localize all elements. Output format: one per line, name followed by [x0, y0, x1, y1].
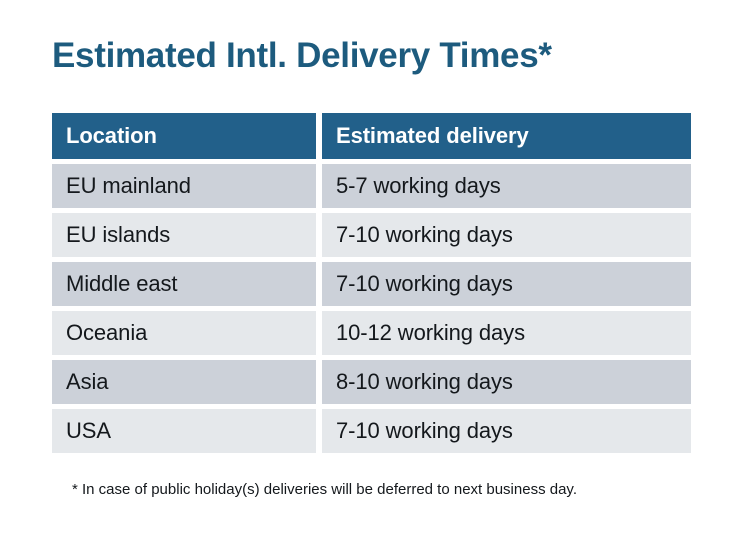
cell-estimated-delivery: 7-10 working days [322, 262, 691, 306]
table-header-row: Location Estimated delivery [52, 113, 691, 159]
cell-location: Middle east [52, 262, 316, 306]
cell-estimated-delivery: 10-12 working days [322, 311, 691, 355]
estimated-delivery-table: Location Estimated delivery EU mainland … [52, 113, 691, 458]
cell-estimated-delivery: 5-7 working days [322, 164, 691, 208]
cell-estimated-delivery: 8-10 working days [322, 360, 691, 404]
table-row: Asia 8-10 working days [52, 360, 691, 404]
column-header-location: Location [52, 113, 316, 159]
cell-location: Oceania [52, 311, 316, 355]
column-header-estimated-delivery: Estimated delivery [322, 113, 691, 159]
cell-estimated-delivery: 7-10 working days [322, 409, 691, 453]
page-title: Estimated Intl. Delivery Times* [52, 36, 552, 76]
cell-location: USA [52, 409, 316, 453]
table-row: EU islands 7-10 working days [52, 213, 691, 257]
table-row: USA 7-10 working days [52, 409, 691, 453]
delivery-times-document: Estimated Intl. Delivery Times* Location… [0, 0, 745, 536]
table-footnote: * In case of public holiday(s) deliverie… [72, 481, 577, 498]
cell-location: EU islands [52, 213, 316, 257]
cell-location: EU mainland [52, 164, 316, 208]
table-row: Oceania 10-12 working days [52, 311, 691, 355]
cell-estimated-delivery: 7-10 working days [322, 213, 691, 257]
cell-location: Asia [52, 360, 316, 404]
table-row: Middle east 7-10 working days [52, 262, 691, 306]
table-row: EU mainland 5-7 working days [52, 164, 691, 208]
